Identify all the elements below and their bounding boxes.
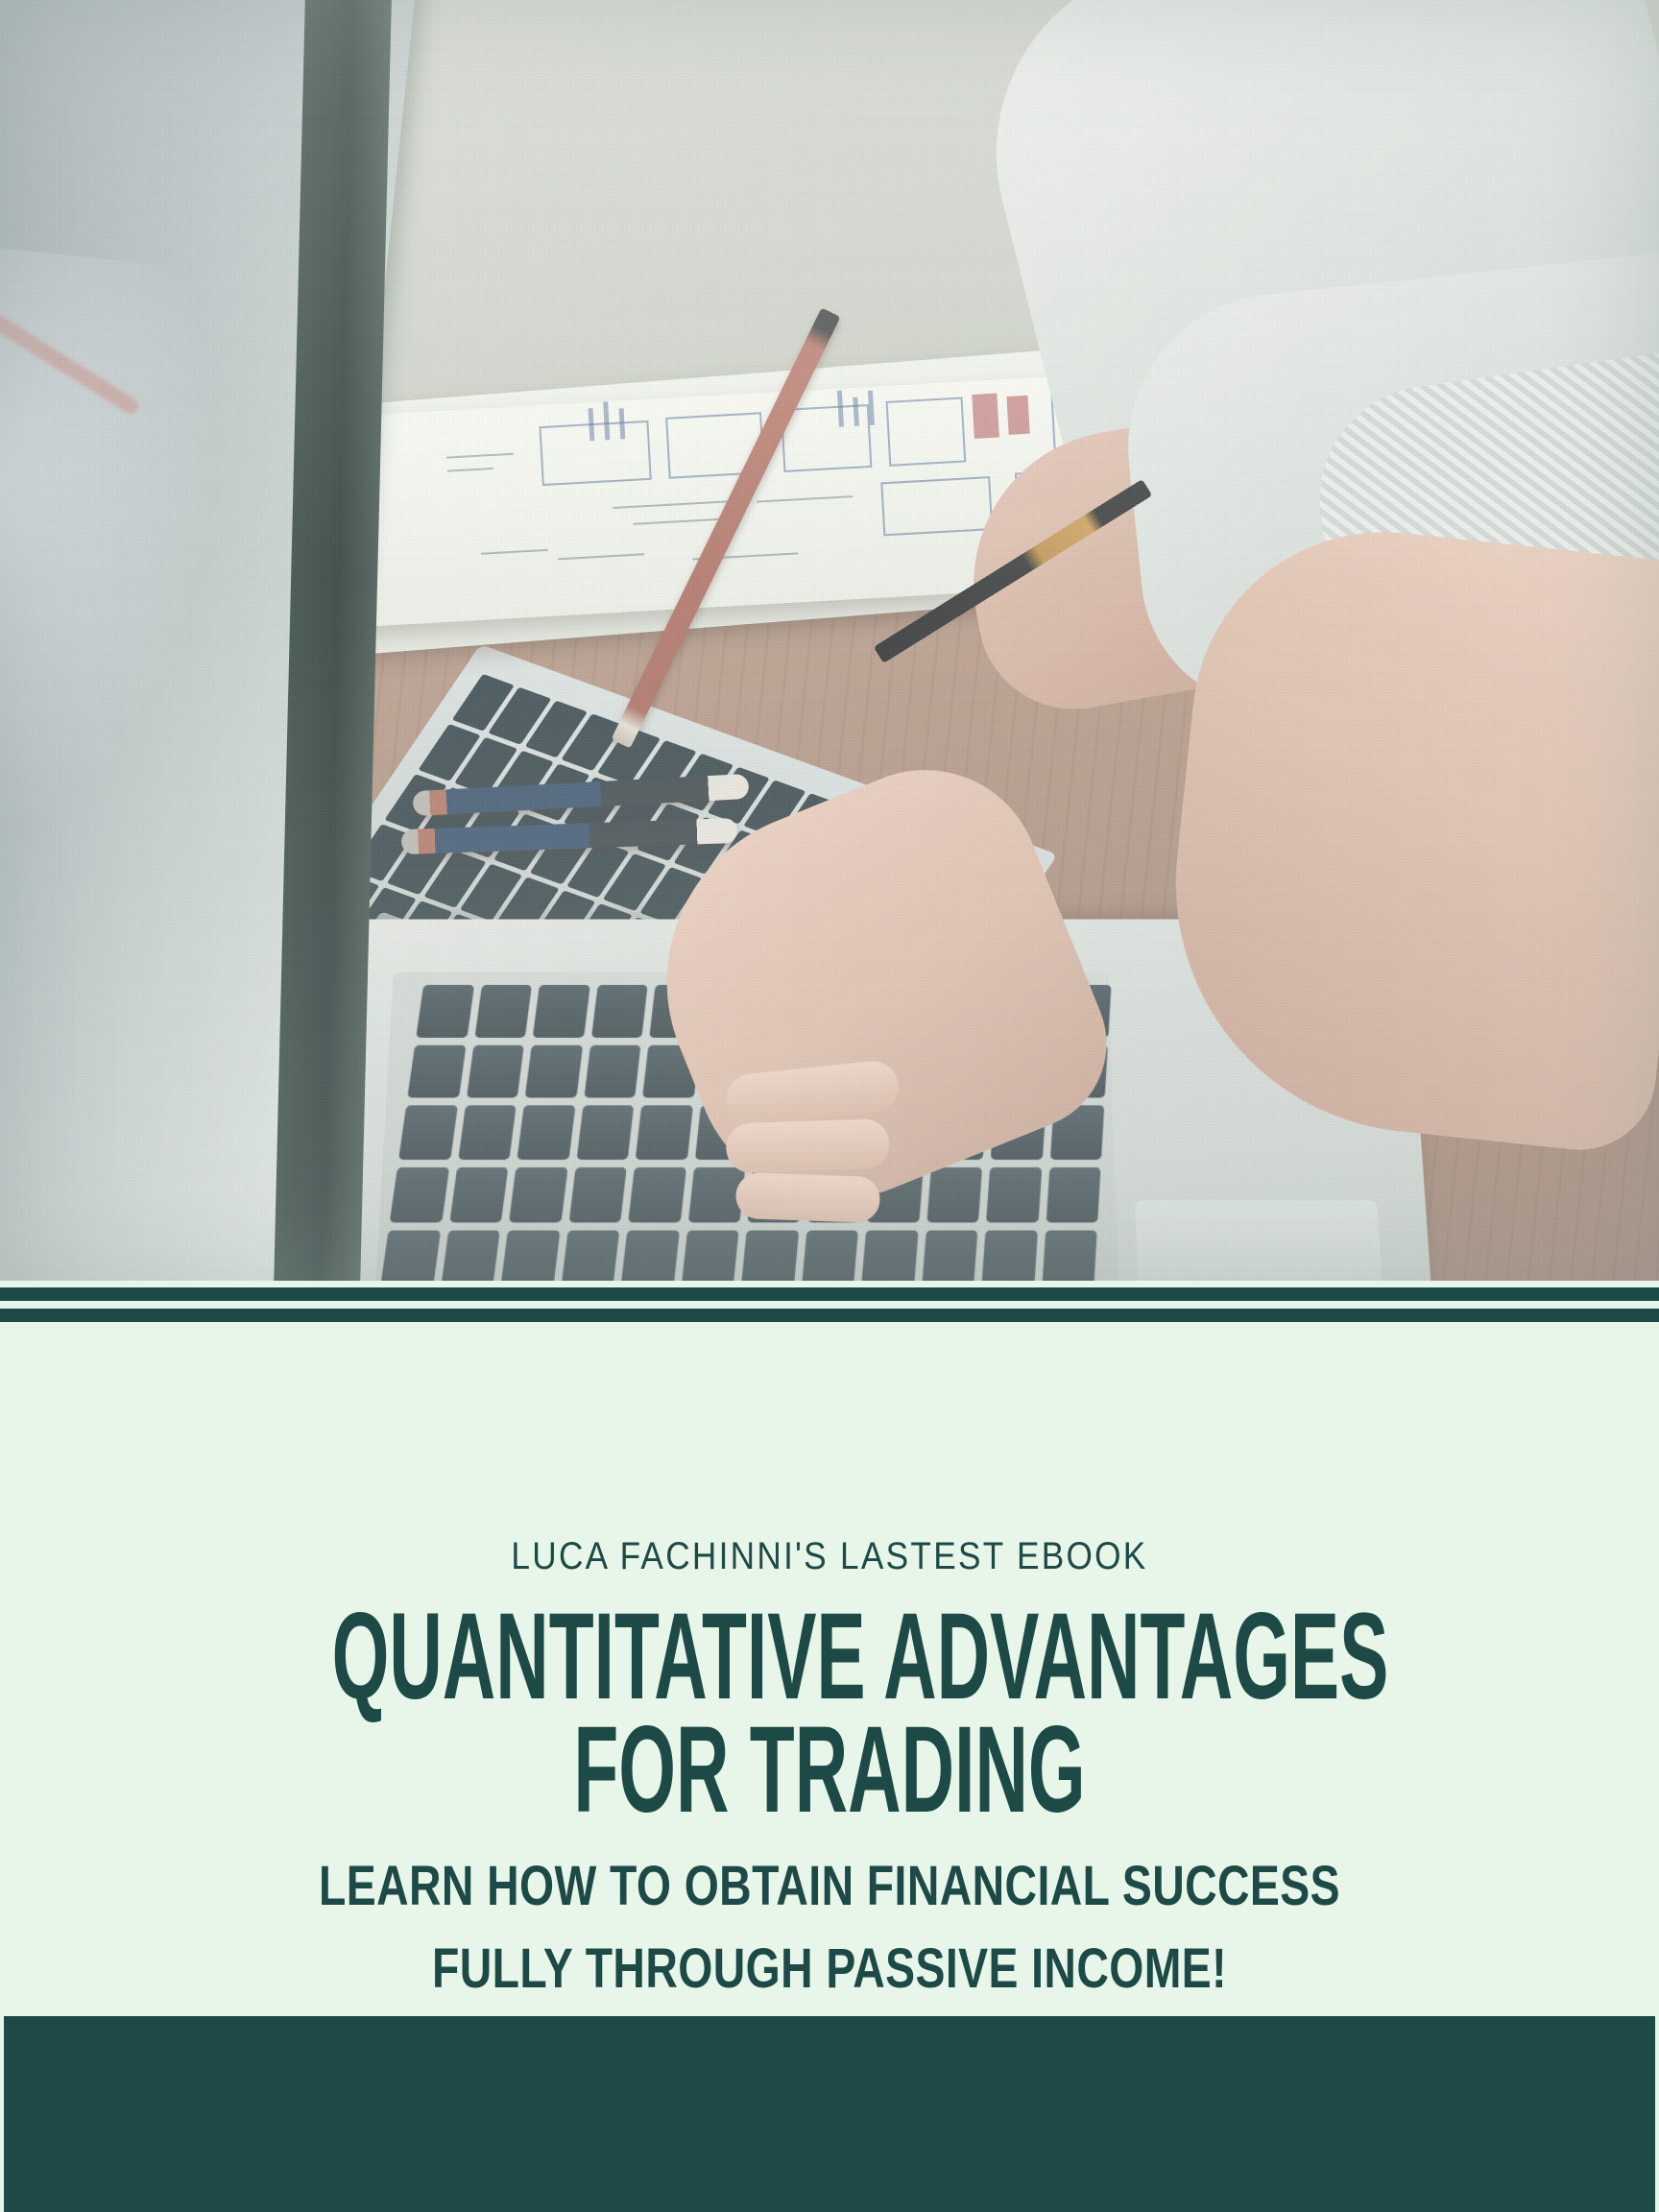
text-panel: LUCA FACHINNI'S LASTEST EBOOK QUANTITATI…	[0, 1322, 1659, 2016]
photo-vignette	[0, 0, 1659, 1281]
subtitle-line-2: FULLY THROUGH PASSIVE INCOME!	[166, 1928, 1493, 2010]
page-title: QUANTITATIVE ADVANTAGES FOR TRADING	[332, 1600, 1328, 1827]
title-line-2: FOR TRADING	[332, 1714, 1328, 1827]
ebook-cover: LUCA FACHINNI'S LASTEST EBOOK QUANTITATI…	[0, 0, 1659, 2212]
cover-photo	[0, 0, 1659, 1281]
title-line-1: QUANTITATIVE ADVANTAGES	[332, 1600, 1328, 1714]
author-eyebrow: LUCA FACHINNI'S LASTEST EBOOK	[100, 1535, 1560, 1578]
photo-scene	[0, 0, 1659, 1281]
page-subtitle: LEARN HOW TO OBTAIN FINANCIAL SUCCESS FU…	[166, 1845, 1493, 2010]
subtitle-line-1: LEARN HOW TO OBTAIN FINANCIAL SUCCESS	[166, 1845, 1493, 1928]
bottom-accent-bar	[4, 2016, 1655, 2212]
divider-bar-top	[0, 1287, 1659, 1301]
divider-bar-bottom	[0, 1309, 1659, 1322]
